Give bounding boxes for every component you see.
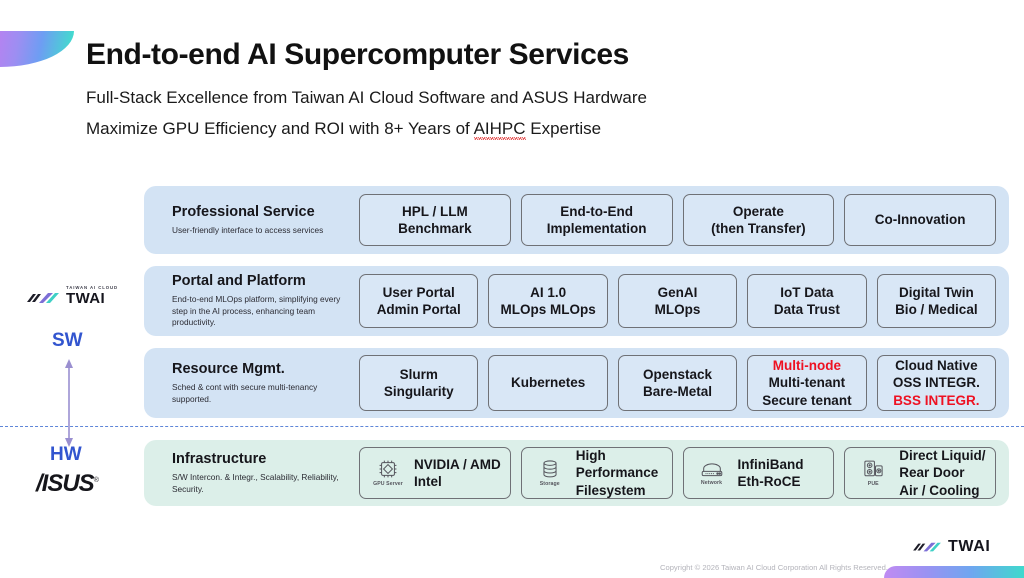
card-line: Openstack	[643, 366, 712, 383]
footer-logo: TWAI	[912, 538, 990, 556]
card-line: Bare-Metal	[643, 383, 712, 400]
card-portal-and-platform-1[interactable]: User PortalAdmin Portal	[359, 274, 478, 328]
card-line: Secure tenant	[762, 392, 851, 409]
card-line: Operate	[711, 203, 806, 220]
row-label-portal-and-platform: Portal and PlatformEnd-to-end MLOps plat…	[144, 273, 359, 329]
card-text: Cloud NativeOSS INTEGR.BSS INTEGR.	[893, 357, 980, 409]
corner-gradient-decoration	[0, 31, 74, 67]
card-line: Multi-node	[762, 357, 851, 374]
card-line: Direct Liquid/	[899, 447, 985, 464]
card-portal-and-platform-4[interactable]: IoT DataData Trust	[747, 274, 866, 328]
card-text: GenAIMLOps	[655, 284, 701, 319]
stack-row-resource-mgmt: Resource Mgmt.Sched & cont with secure m…	[144, 348, 1009, 418]
card-resource-mgmt-4[interactable]: Multi-nodeMulti-tenantSecure tenant	[747, 355, 866, 411]
card-line: Co-Innovation	[875, 211, 966, 228]
stack-row-professional-service: Professional ServiceUser-friendly interf…	[144, 186, 1009, 254]
row-label-infrastructure: InfrastructureS/W Intercon. & Integr., S…	[144, 451, 359, 496]
card-line: Multi-tenant	[762, 374, 851, 391]
row-cards: GPU ServerNVIDIA / AMDIntelStorageHighPe…	[359, 447, 1009, 499]
card-line: OSS INTEGR.	[893, 374, 980, 391]
card-text: InfiniBandEth-RoCE	[738, 456, 804, 491]
card-text: NVIDIA / AMDIntel	[414, 456, 501, 491]
card-line: Slurm	[384, 366, 454, 383]
copyright-text: Copyright © 2026 Taiwan AI Cloud Corpora…	[660, 563, 888, 572]
card-text: Digital TwinBio / Medical	[895, 284, 978, 319]
subtitle-2-post: Expertise	[526, 119, 602, 138]
card-portal-and-platform-3[interactable]: GenAIMLOps	[618, 274, 737, 328]
card-line: Singularity	[384, 383, 454, 400]
card-text: HPL / LLMBenchmark	[398, 203, 472, 238]
card-infrastructure-2[interactable]: StorageHighPerformanceFilesystem	[521, 447, 673, 499]
card-text: HighPerformanceFilesystem	[576, 447, 659, 499]
card-line: Cloud Native	[893, 357, 980, 374]
cooling-icon: PUE	[856, 458, 890, 488]
card-text: Multi-nodeMulti-tenantSecure tenant	[762, 357, 851, 409]
row-description: End-to-end MLOps platform, simplifying e…	[172, 294, 354, 329]
row-cards: HPL / LLMBenchmarkEnd-to-EndImplementati…	[359, 194, 1009, 246]
card-text: Co-Innovation	[875, 211, 966, 228]
row-description: User-friendly interface to access servic…	[172, 225, 354, 237]
row-cards: User PortalAdmin PortalAI 1.0MLOps MLOps…	[359, 274, 1009, 328]
slide-root: End-to-end AI Supercomputer Services Ful…	[0, 0, 1024, 578]
card-resource-mgmt-2[interactable]: Kubernetes	[488, 355, 607, 411]
card-infrastructure-3[interactable]: NetworkInfiniBandEth-RoCE	[683, 447, 835, 499]
card-text: Kubernetes	[511, 374, 585, 391]
sw-label: SW	[52, 330, 83, 352]
storage-icon: Storage	[533, 458, 567, 488]
card-infrastructure-4[interactable]: PUEDirect Liquid/Rear DoorAir / Cooling	[844, 447, 996, 499]
card-professional-service-4[interactable]: Co-Innovation	[844, 194, 996, 246]
asus-logo: /ISUS®	[36, 470, 98, 498]
card-text: IoT DataData Trust	[774, 284, 840, 319]
card-line: User Portal	[377, 284, 461, 301]
row-title: Infrastructure	[172, 451, 359, 467]
card-professional-service-3[interactable]: Operate(then Transfer)	[683, 194, 835, 246]
row-description: Sched & cont with secure multi-tenancy s…	[172, 382, 354, 406]
card-text: Operate(then Transfer)	[711, 203, 806, 238]
card-resource-mgmt-3[interactable]: OpenstackBare-Metal	[618, 355, 737, 411]
row-label-resource-mgmt: Resource Mgmt.Sched & cont with secure m…	[144, 361, 359, 406]
row-label-professional-service: Professional ServiceUser-friendly interf…	[144, 204, 359, 237]
card-line: (then Transfer)	[711, 220, 806, 237]
twai-logo: TAIWAN AI CLOUD TWAI	[26, 285, 117, 306]
card-text: OpenstackBare-Metal	[643, 366, 712, 401]
footer-twai-mark-icon	[912, 541, 942, 554]
card-line: Digital Twin	[895, 284, 978, 301]
twai-wordmark: TAIWAN AI CLOUD TWAI	[66, 285, 117, 306]
icon-caption: Network	[701, 480, 722, 487]
card-line: Air / Cooling	[899, 482, 985, 499]
card-text: SlurmSingularity	[384, 366, 454, 401]
icon-caption: Storage	[540, 481, 560, 488]
card-resource-mgmt-5[interactable]: Cloud NativeOSS INTEGR.BSS INTEGR.	[877, 355, 996, 411]
hw-label: HW	[50, 444, 82, 466]
twai-mark-icon	[26, 291, 60, 306]
icon-caption: GPU Server	[373, 481, 403, 488]
card-line: AI 1.0	[500, 284, 595, 301]
card-line: HPL / LLM	[398, 203, 472, 220]
card-line: Implementation	[547, 220, 647, 237]
card-line: Bio / Medical	[895, 301, 978, 318]
card-line: Rear Door	[899, 464, 985, 481]
card-line: MLOps MLOps	[500, 301, 595, 318]
sw-hw-double-arrow-icon	[60, 358, 78, 448]
card-line: BSS INTEGR.	[893, 392, 980, 409]
subtitle-line-2: Maximize GPU Efficiency and ROI with 8+ …	[86, 119, 601, 139]
card-line: Filesystem	[576, 482, 659, 499]
card-line: Data Trust	[774, 301, 840, 318]
asus-registered-mark: ®	[94, 477, 98, 484]
card-line: Kubernetes	[511, 374, 585, 391]
stack-row-infrastructure: InfrastructureS/W Intercon. & Integr., S…	[144, 440, 1009, 506]
icon-caption: PUE	[868, 481, 879, 488]
card-infrastructure-1[interactable]: GPU ServerNVIDIA / AMDIntel	[359, 447, 511, 499]
card-line: NVIDIA / AMD	[414, 456, 501, 473]
card-line: End-to-End	[547, 203, 647, 220]
page-title: End-to-end AI Supercomputer Services	[86, 38, 629, 72]
row-cards: SlurmSingularityKubernetesOpenstackBare-…	[359, 355, 1009, 411]
left-rail: TAIWAN AI CLOUD TWAI SW HW /ISUS®	[0, 270, 148, 520]
card-line: IoT Data	[774, 284, 840, 301]
card-line: GenAI	[655, 284, 701, 301]
subtitle-2-pre: Maximize GPU Efficiency and ROI with 8+ …	[86, 119, 474, 138]
row-title: Portal and Platform	[172, 273, 359, 289]
card-portal-and-platform-2[interactable]: AI 1.0MLOps MLOps	[488, 274, 607, 328]
asus-wordmark: /ISUS	[36, 470, 94, 497]
card-line: Admin Portal	[377, 301, 461, 318]
row-title: Professional Service	[172, 204, 359, 220]
row-description: S/W Intercon. & Integr., Scalability, Re…	[172, 472, 354, 496]
card-line: MLOps	[655, 301, 701, 318]
card-portal-and-platform-5[interactable]: Digital TwinBio / Medical	[877, 274, 996, 328]
card-line: Eth-RoCE	[738, 473, 804, 490]
subtitle-line-1: Full-Stack Excellence from Taiwan AI Clo…	[86, 88, 647, 108]
row-title: Resource Mgmt.	[172, 361, 359, 377]
network-switch-icon: Network	[695, 459, 729, 487]
card-line: Benchmark	[398, 220, 472, 237]
card-text: User PortalAdmin Portal	[377, 284, 461, 319]
card-line: InfiniBand	[738, 456, 804, 473]
chip-icon: GPU Server	[371, 458, 405, 488]
card-professional-service-2[interactable]: End-to-EndImplementation	[521, 194, 673, 246]
footer-gradient-bar	[884, 566, 1024, 578]
twai-tagline: TAIWAN AI CLOUD	[66, 285, 118, 290]
stack-row-portal-and-platform: Portal and PlatformEnd-to-end MLOps plat…	[144, 266, 1009, 336]
card-professional-service-1[interactable]: HPL / LLMBenchmark	[359, 194, 511, 246]
footer-brand-name: TWAI	[948, 538, 990, 556]
twai-name: TWAI	[66, 291, 105, 306]
card-line: Intel	[414, 473, 501, 490]
sw-hw-divider	[0, 426, 1024, 427]
card-text: End-to-EndImplementation	[547, 203, 647, 238]
card-line: High	[576, 447, 659, 464]
card-resource-mgmt-1[interactable]: SlurmSingularity	[359, 355, 478, 411]
card-text: AI 1.0MLOps MLOps	[500, 284, 595, 319]
card-text: Direct Liquid/Rear DoorAir / Cooling	[899, 447, 985, 499]
card-line: Performance	[576, 464, 659, 481]
subtitle-2-misspelled-term: AIHPC	[474, 119, 526, 140]
